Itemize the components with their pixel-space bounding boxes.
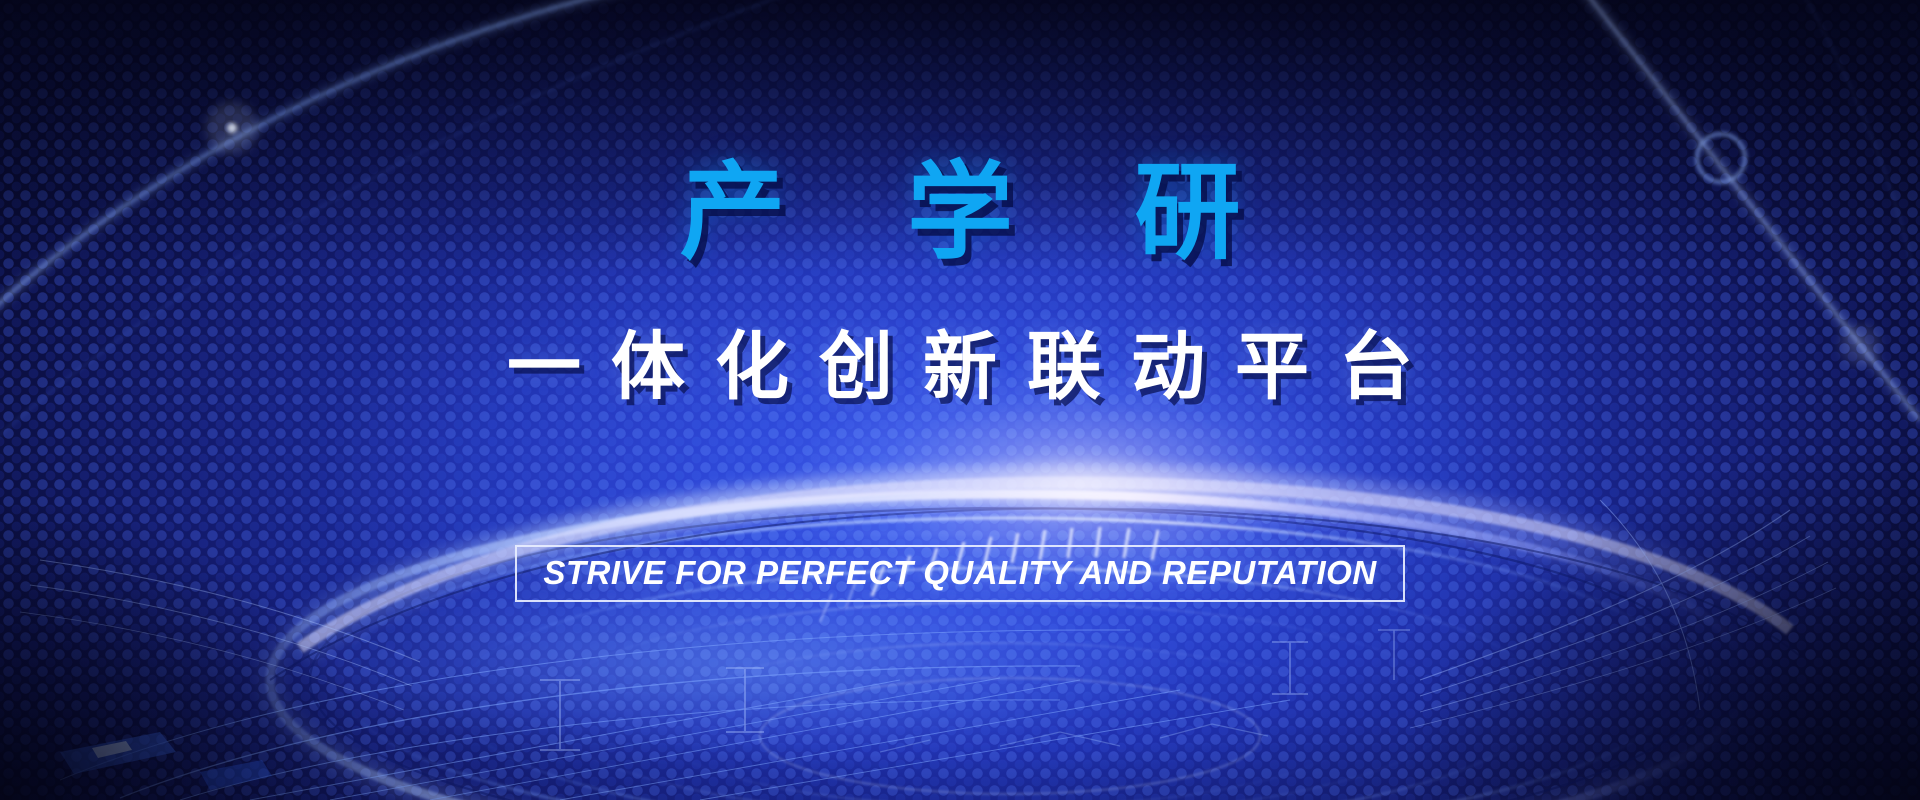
page-title-secondary: 一体化创新联动平台 <box>0 330 1920 404</box>
banner-content: 产 学 研 一体化创新联动平台 STRIVE FOR PERFECT QUALI… <box>0 0 1920 800</box>
tagline-text: STRIVE FOR PERFECT QUALITY AND REPUTATIO… <box>543 556 1376 589</box>
banner-hero: 产 学 研 一体化创新联动平台 STRIVE FOR PERFECT QUALI… <box>0 0 1920 800</box>
page-title-primary: 产 学 研 <box>0 160 1920 266</box>
tagline-wrapper: STRIVE FOR PERFECT QUALITY AND REPUTATIO… <box>0 545 1920 602</box>
tagline-box: STRIVE FOR PERFECT QUALITY AND REPUTATIO… <box>515 545 1404 602</box>
